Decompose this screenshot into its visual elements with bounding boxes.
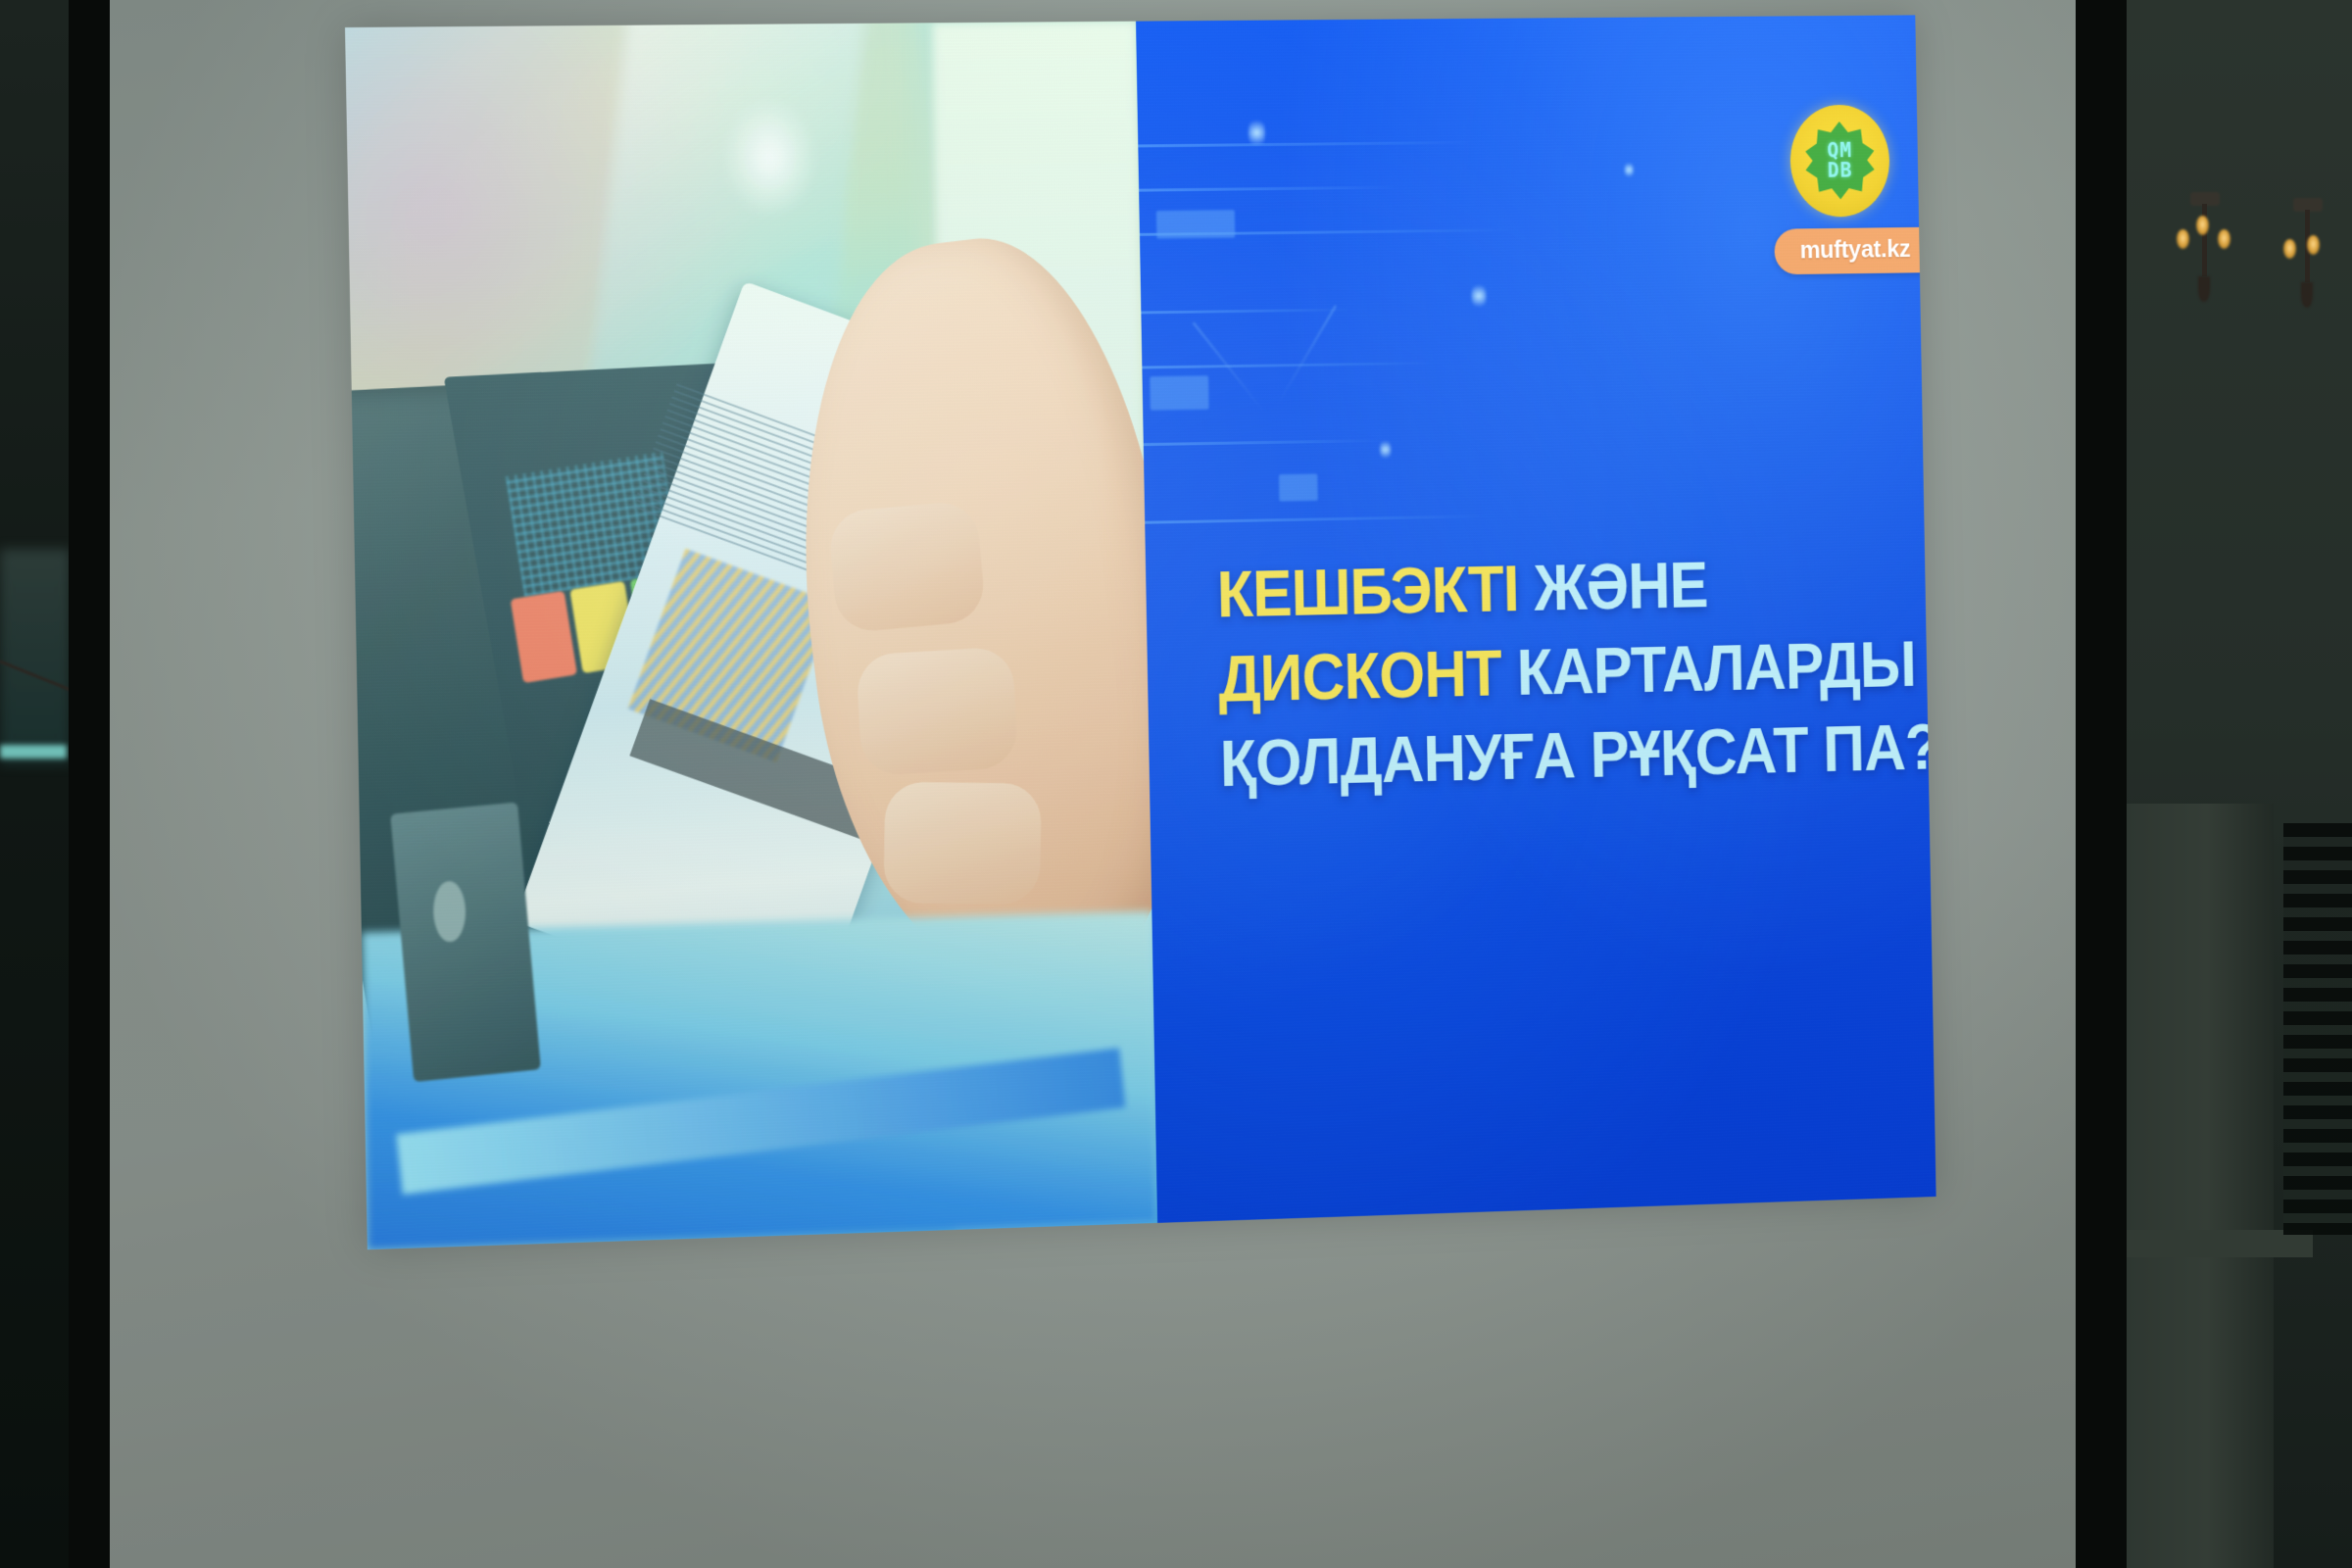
emblem-letters-top: QM bbox=[1827, 141, 1852, 161]
slide-headline: КЕШБЭКТІ ЖӘНЕ ДИСКОНТ КАРТАЛАРДЫ ҚОЛДАНУ… bbox=[1216, 547, 1935, 814]
headline-line-1: КЕШБЭКТІ ЖӘНЕ bbox=[1216, 548, 1884, 628]
room-pillar bbox=[2127, 804, 2274, 1568]
headline-line-1-accent: КЕШБЭКТІ bbox=[1216, 552, 1519, 631]
muftyat-url-badge: muftyat.kz bbox=[1774, 226, 1929, 273]
headline-line-3-plain: ҚОЛДАНУҒА РҰҚСАТ ПА? bbox=[1219, 710, 1935, 801]
wall-sconce-left bbox=[2171, 186, 2239, 294]
headline-line-2-accent: ДИСКОНТ bbox=[1218, 636, 1502, 715]
slide-blue-panel: QM DB muftyat.kz КЕШБЭКТІ ЖӘНЕ ДИСКОНТ К… bbox=[1136, 15, 1936, 1223]
circuit-pattern bbox=[1136, 41, 1601, 599]
headline-line-2: ДИСКОНТ КАРТАЛАРДЫ bbox=[1218, 631, 1886, 712]
headline-line-3: ҚОЛДАНУҒА РҰҚСАТ ПА? bbox=[1219, 714, 1886, 797]
screen-frame-right bbox=[2076, 0, 2127, 1568]
photo-color-cast bbox=[345, 22, 1157, 1250]
wall-sconce-right bbox=[2274, 192, 2342, 300]
qmdb-emblem-icon: QM DB bbox=[1789, 104, 1890, 217]
emblem-letters: QM DB bbox=[1827, 141, 1852, 179]
room-left-dark-area bbox=[0, 0, 73, 1568]
headline-line-2-plain: КАРТАЛАРДЫ bbox=[1516, 627, 1916, 709]
room-window-shutter bbox=[2283, 823, 2352, 1235]
emblem-letters-bottom: DB bbox=[1828, 161, 1853, 180]
headline-line-1-plain: ЖӘНЕ bbox=[1534, 548, 1708, 624]
eight-point-star-icon: QM DB bbox=[1803, 122, 1876, 200]
projected-slide: QM DB muftyat.kz КЕШБЭКТІ ЖӘНЕ ДИСКОНТ К… bbox=[345, 15, 1936, 1249]
screen-frame-left bbox=[69, 0, 112, 1568]
room-left-glow bbox=[0, 549, 71, 764]
brand-logo: QM DB muftyat.kz bbox=[1751, 104, 1929, 274]
room-left-teal-light bbox=[0, 745, 67, 759]
pos-payment-photo bbox=[345, 22, 1157, 1250]
